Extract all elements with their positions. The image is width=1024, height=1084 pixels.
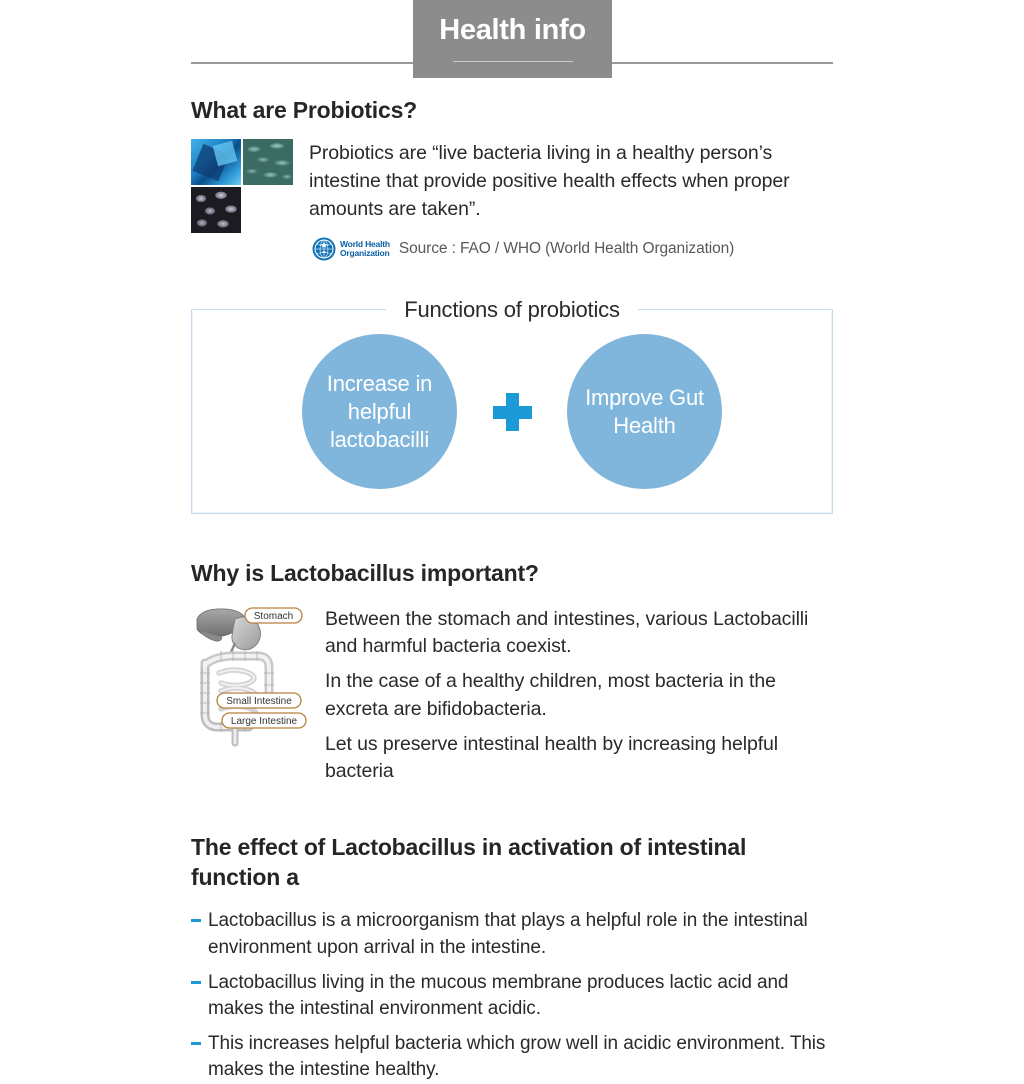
page-header: Health info	[0, 0, 1024, 95]
probiotics-heading: What are Probiotics?	[191, 95, 833, 125]
why-paragraph: In the case of a healthy children, most …	[325, 668, 833, 723]
section-what-are-probiotics: What are Probiotics? Probiotics are “liv…	[191, 95, 833, 261]
effect-bullet-list: Lactobacillus is a microorganism that pl…	[191, 908, 833, 1083]
anatomy-label-stomach: Stomach	[245, 608, 302, 623]
list-item: This increases helpful bacteria which gr…	[191, 1031, 833, 1083]
who-logo-wordmark: World Health Organization	[340, 240, 390, 258]
list-item-label: Lactobacillus is a microorganism that pl…	[208, 910, 808, 957]
function-circle-improve-gut-health: Improve Gut Health	[567, 334, 722, 489]
section-effect-of-lactobacillus: The effect of Lactobacillus in activatio…	[191, 832, 833, 1084]
microscopy-thumbnail-group	[191, 139, 293, 233]
probiotics-source-text: Source : FAO / WHO (World Health Organiz…	[399, 240, 734, 258]
page-title: Health info	[439, 16, 586, 45]
functions-panel-title: Functions of probiotics	[386, 299, 638, 321]
anatomy-label-large-intestine: Large Intestine	[222, 713, 306, 728]
probiotics-intro-row: Probiotics are “live bacteria living in …	[191, 139, 833, 261]
list-item-label: Lactobacillus living in the mucous membr…	[208, 972, 788, 1019]
probiotics-definition-block: Probiotics are “live bacteria living in …	[309, 139, 833, 261]
probiotics-source-row: World Health Organization Source : FAO /…	[312, 237, 833, 261]
list-item-label: This increases helpful bacteria which gr…	[208, 1033, 825, 1080]
who-globe-icon	[312, 237, 336, 261]
svg-text:Stomach: Stomach	[254, 611, 293, 622]
dark-bacteria-microscopy-thumbnail	[191, 187, 241, 233]
why-heading: Why is Lactobacillus important?	[191, 558, 833, 588]
digestive-system-icon: Stomach Small Intestine Large Intestine	[191, 603, 309, 748]
anatomy-label-small-intestine: Small Intestine	[217, 693, 301, 708]
who-logo-line-2: Organization	[340, 249, 390, 258]
dash-bullet-icon	[191, 919, 201, 922]
header-tab-underline	[453, 61, 573, 62]
digestive-system-illustration: Stomach Small Intestine Large Intestine	[191, 603, 309, 748]
header-tab: Health info	[413, 0, 612, 78]
page-content: What are Probiotics? Probiotics are “liv…	[0, 95, 1024, 1084]
functions-panel-content: Increase in helpful lactobacilli Improve…	[191, 309, 833, 514]
list-item: Lactobacillus is a microorganism that pl…	[191, 908, 833, 960]
dash-bullet-icon	[191, 1042, 201, 1045]
why-paragraph: Let us preserve intestinal health by inc…	[325, 731, 833, 786]
probiotics-definition-text: Probiotics are “live bacteria living in …	[309, 140, 833, 223]
svg-text:Large Intestine: Large Intestine	[231, 716, 298, 727]
teal-rod-bacteria-microscopy-thumbnail	[243, 139, 293, 185]
section-why-lactobacillus-important: Why is Lactobacillus important?	[191, 558, 833, 785]
section-functions-of-probiotics: Functions of probiotics Increase in help…	[191, 299, 833, 514]
why-paragraph: Between the stomach and intestines, vari…	[325, 606, 833, 661]
function-circle-increase-lactobacilli: Increase in helpful lactobacilli	[302, 334, 457, 489]
dash-bullet-icon	[191, 981, 201, 984]
why-paragraph-block: Between the stomach and intestines, vari…	[325, 603, 833, 786]
effect-heading: The effect of Lactobacillus in activatio…	[191, 832, 833, 893]
why-body-row: Stomach Small Intestine Large Intestine …	[191, 603, 833, 786]
who-logo: World Health Organization	[312, 237, 390, 261]
svg-text:Small Intestine: Small Intestine	[226, 696, 292, 707]
plus-icon	[491, 391, 533, 433]
list-item: Lactobacillus living in the mucous membr…	[191, 970, 833, 1022]
blue-crystal-microscopy-thumbnail	[191, 139, 241, 185]
